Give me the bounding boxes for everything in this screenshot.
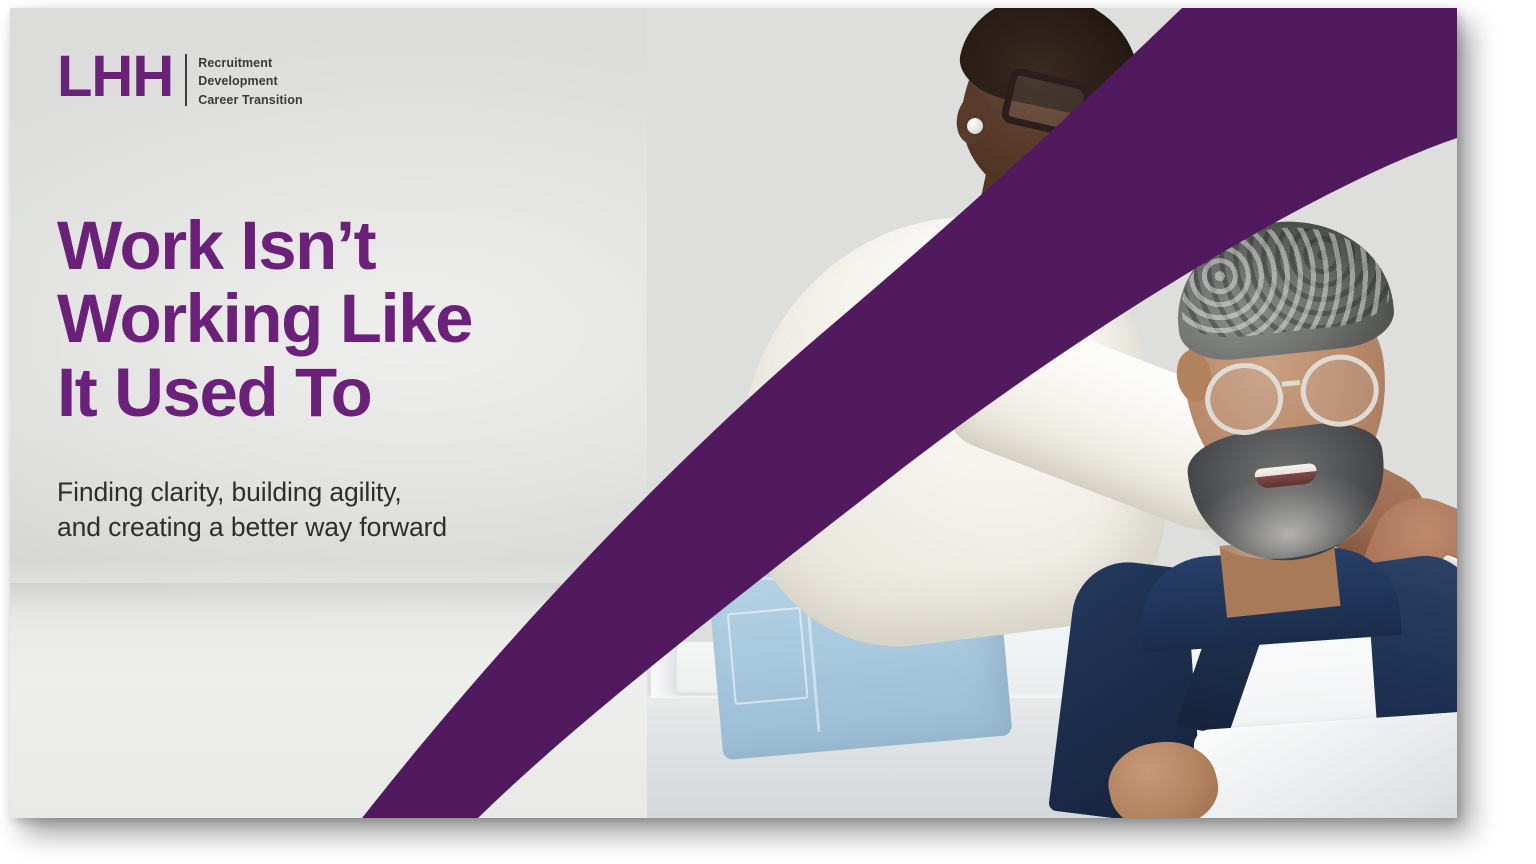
eyeglass-lens	[1202, 360, 1286, 439]
jeans-pocket	[726, 607, 808, 705]
laptop-lid	[1193, 711, 1457, 818]
eyeglass-bridge	[1282, 380, 1300, 387]
woman-button	[1037, 260, 1046, 269]
logo-tagline-line: Recruitment	[198, 54, 303, 72]
headline-line: It Used To	[57, 356, 650, 429]
headline-line: Working Like	[57, 282, 650, 355]
screenshot-stage: LHH Recruitment Development Career Trans…	[0, 0, 1536, 864]
logo-tagline-line: Career Transition	[198, 91, 303, 109]
hero-photo	[647, 8, 1457, 818]
subtitle-line: Finding clarity, building agility,	[57, 475, 650, 510]
subtitle-line: and creating a better way forward	[57, 510, 650, 545]
slide-content: LHH Recruitment Development Career Trans…	[10, 8, 650, 818]
lhh-wordmark-icon: LHH	[57, 52, 173, 102]
eyeglass-lens	[1083, 86, 1181, 160]
lhh-logo[interactable]: LHH Recruitment Development Career Trans…	[57, 52, 650, 109]
eyeglass-lens	[1298, 351, 1382, 430]
seated-man	[1047, 222, 1457, 818]
slide-subtitle: Finding clarity, building agility, and c…	[57, 475, 650, 545]
woman-earring	[967, 118, 983, 134]
slide-headline: Work Isn’t Working Like It Used To	[57, 209, 650, 429]
logo-tagline: Recruitment Development Career Transitio…	[198, 52, 303, 109]
logo-tagline-line: Development	[198, 72, 303, 90]
headline-line: Work Isn’t	[57, 209, 650, 282]
presentation-slide-card: LHH Recruitment Development Career Trans…	[10, 8, 1457, 818]
logo-divider	[185, 54, 187, 106]
